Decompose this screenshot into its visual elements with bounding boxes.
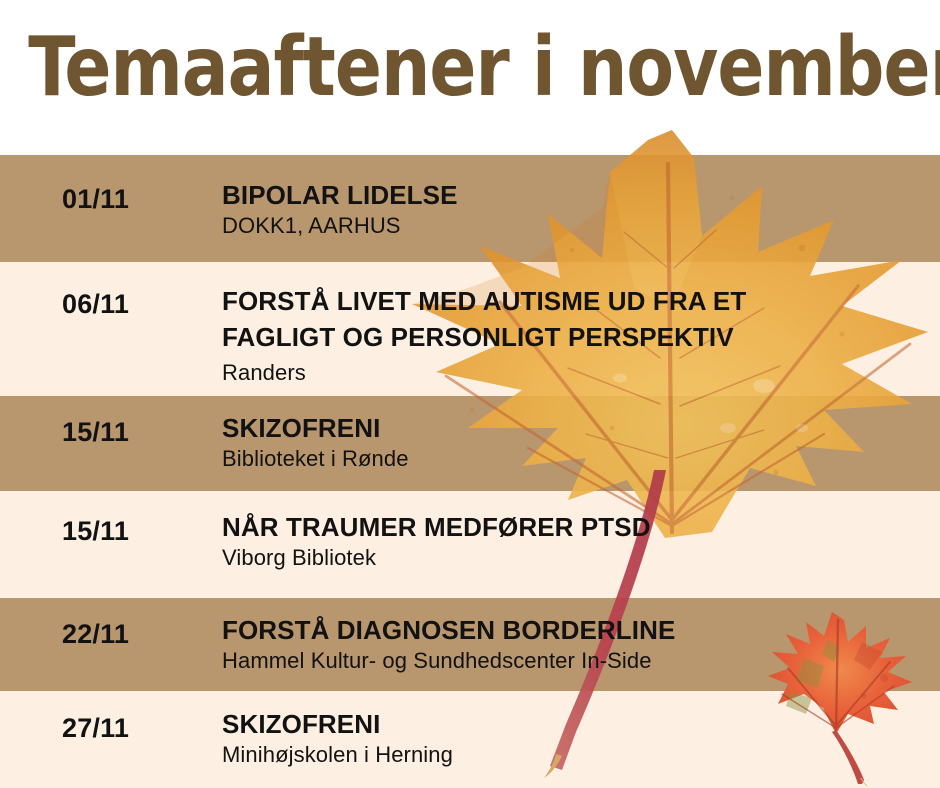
event-body: FORSTÅ DIAGNOSEN BORDERLINE Hammel Kultu… <box>222 614 934 675</box>
event-body: FORSTÅ LIVET MED AUTISME UD FRA ET FAGLI… <box>222 283 934 387</box>
event-date: 01/11 <box>62 183 129 215</box>
event-body: SKIZOFRENI Minihøjskolen i Herning <box>222 708 934 769</box>
event-title-line1: FORSTÅ DIAGNOSEN BORDERLINE <box>222 614 934 647</box>
event-venue: Randers <box>222 355 934 387</box>
event-title-line1: NÅR TRAUMER MEDFØRER PTSD <box>222 511 934 544</box>
event-title-line2: FAGLIGT OG PERSONLIGT PERSPEKTIV <box>222 319 934 355</box>
event-body: NÅR TRAUMER MEDFØRER PTSD Viborg Bibliot… <box>222 511 934 572</box>
event-title-line1: FORSTÅ LIVET MED AUTISME UD FRA ET <box>222 283 934 319</box>
event-venue: Biblioteket i Rønde <box>222 445 934 473</box>
event-date: 27/11 <box>62 712 129 744</box>
event-venue: Viborg Bibliotek <box>222 544 934 572</box>
event-title-line1: SKIZOFRENI <box>222 708 934 741</box>
event-body: BIPOLAR LIDELSE DOKK1, AARHUS <box>222 179 934 240</box>
event-date: 06/11 <box>62 288 129 320</box>
event-date: 22/11 <box>62 618 129 650</box>
event-row: 01/11 BIPOLAR LIDELSE DOKK1, AARHUS <box>0 155 940 262</box>
event-venue: DOKK1, AARHUS <box>222 212 934 240</box>
event-venue: Hammel Kultur- og Sundhedscenter In-Side <box>222 647 934 675</box>
event-body: SKIZOFRENI Biblioteket i Rønde <box>222 412 934 473</box>
event-row: 22/11 FORSTÅ DIAGNOSEN BORDERLINE Hammel… <box>0 598 940 691</box>
event-row: 06/11 FORSTÅ LIVET MED AUTISME UD FRA ET… <box>0 262 940 396</box>
event-date: 15/11 <box>62 515 129 547</box>
event-row: 15/11 NÅR TRAUMER MEDFØRER PTSD Viborg B… <box>0 491 940 598</box>
event-venue: Minihøjskolen i Herning <box>222 741 934 769</box>
event-date: 15/11 <box>62 416 129 448</box>
poster-canvas: Temaaftener i november 01/11 BIPOLAR LID… <box>0 0 940 788</box>
event-title-line1: SKIZOFRENI <box>222 412 934 445</box>
page-title: Temaaftener i november <box>28 20 912 116</box>
event-title-line1: BIPOLAR LIDELSE <box>222 179 934 212</box>
event-row: 15/11 SKIZOFRENI Biblioteket i Rønde <box>0 396 940 491</box>
event-row: 27/11 SKIZOFRENI Minihøjskolen i Herning <box>0 691 940 788</box>
